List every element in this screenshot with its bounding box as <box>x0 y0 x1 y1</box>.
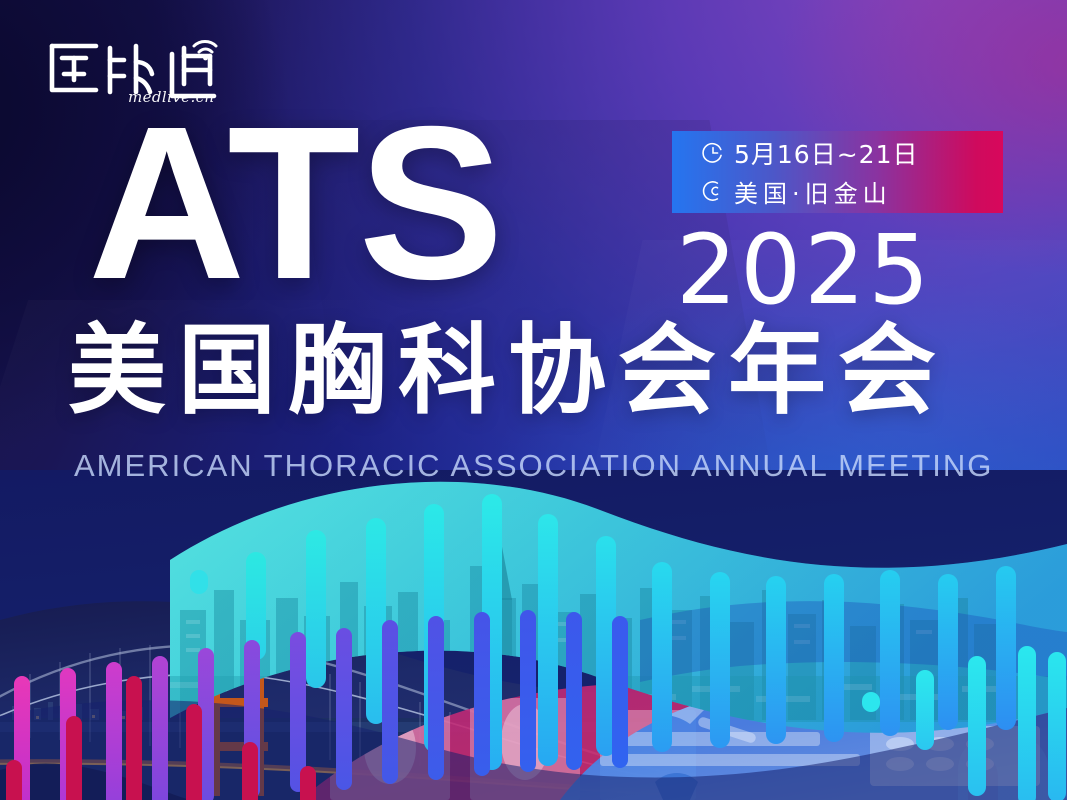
event-acronym: ATS <box>88 104 502 305</box>
event-title-chinese: 美国胸科协会年会 <box>68 322 998 420</box>
bar-cyan <box>1018 646 1036 800</box>
bar-violet <box>152 656 168 800</box>
bar-crimson <box>6 760 22 800</box>
event-year: 2025 <box>676 222 932 318</box>
clock-icon <box>702 142 724 164</box>
bar-cyan <box>1048 652 1066 800</box>
location-crescent-icon <box>702 180 724 202</box>
bar-blue <box>474 612 490 776</box>
bar-cyan <box>710 572 730 748</box>
bar-violet <box>336 628 352 790</box>
bar-cyan <box>190 570 208 594</box>
bar-cyan <box>538 514 558 766</box>
bar-cyan <box>968 656 986 796</box>
badge-location-text: 美国·旧金山 <box>734 174 892 209</box>
bar-crimson <box>126 676 142 800</box>
event-info-badge: 5月16日~21日 美国·旧金山 <box>672 131 1003 213</box>
bar-crimson <box>186 704 202 800</box>
bar-cyan <box>916 670 934 750</box>
bar-cyan <box>996 566 1016 730</box>
bar-cyan <box>880 570 900 736</box>
bar-crimson <box>66 716 82 800</box>
bar-cyan <box>306 530 326 688</box>
bar-cyan <box>824 574 844 742</box>
bar-cyan <box>938 574 958 730</box>
bar-blue <box>520 610 536 772</box>
bar-violet <box>106 662 122 800</box>
bar-violet <box>382 620 398 784</box>
bar-cyan <box>766 576 786 744</box>
bar-cyan <box>652 562 672 752</box>
bar-blue <box>612 616 628 768</box>
bar-crimson <box>242 742 258 800</box>
bar-crimson <box>300 766 316 800</box>
waveform-bars <box>0 470 1067 800</box>
bar-blue <box>428 616 444 780</box>
poster-canvas: medlive.cn ATS 2025 5月16日~21日 美国·旧金山 美国胸… <box>0 0 1067 800</box>
bar-blue <box>566 612 582 770</box>
badge-date-row: 5月16日~21日 <box>702 135 1003 171</box>
bar-cyan <box>862 692 880 712</box>
badge-location-row: 美国·旧金山 <box>702 173 1003 209</box>
wifi-signal-icon <box>203 56 208 61</box>
badge-date-text: 5月16日~21日 <box>734 135 918 171</box>
event-title-english: AMERICAN THORACIC ASSOCIATION ANNUAL MEE… <box>74 450 974 481</box>
